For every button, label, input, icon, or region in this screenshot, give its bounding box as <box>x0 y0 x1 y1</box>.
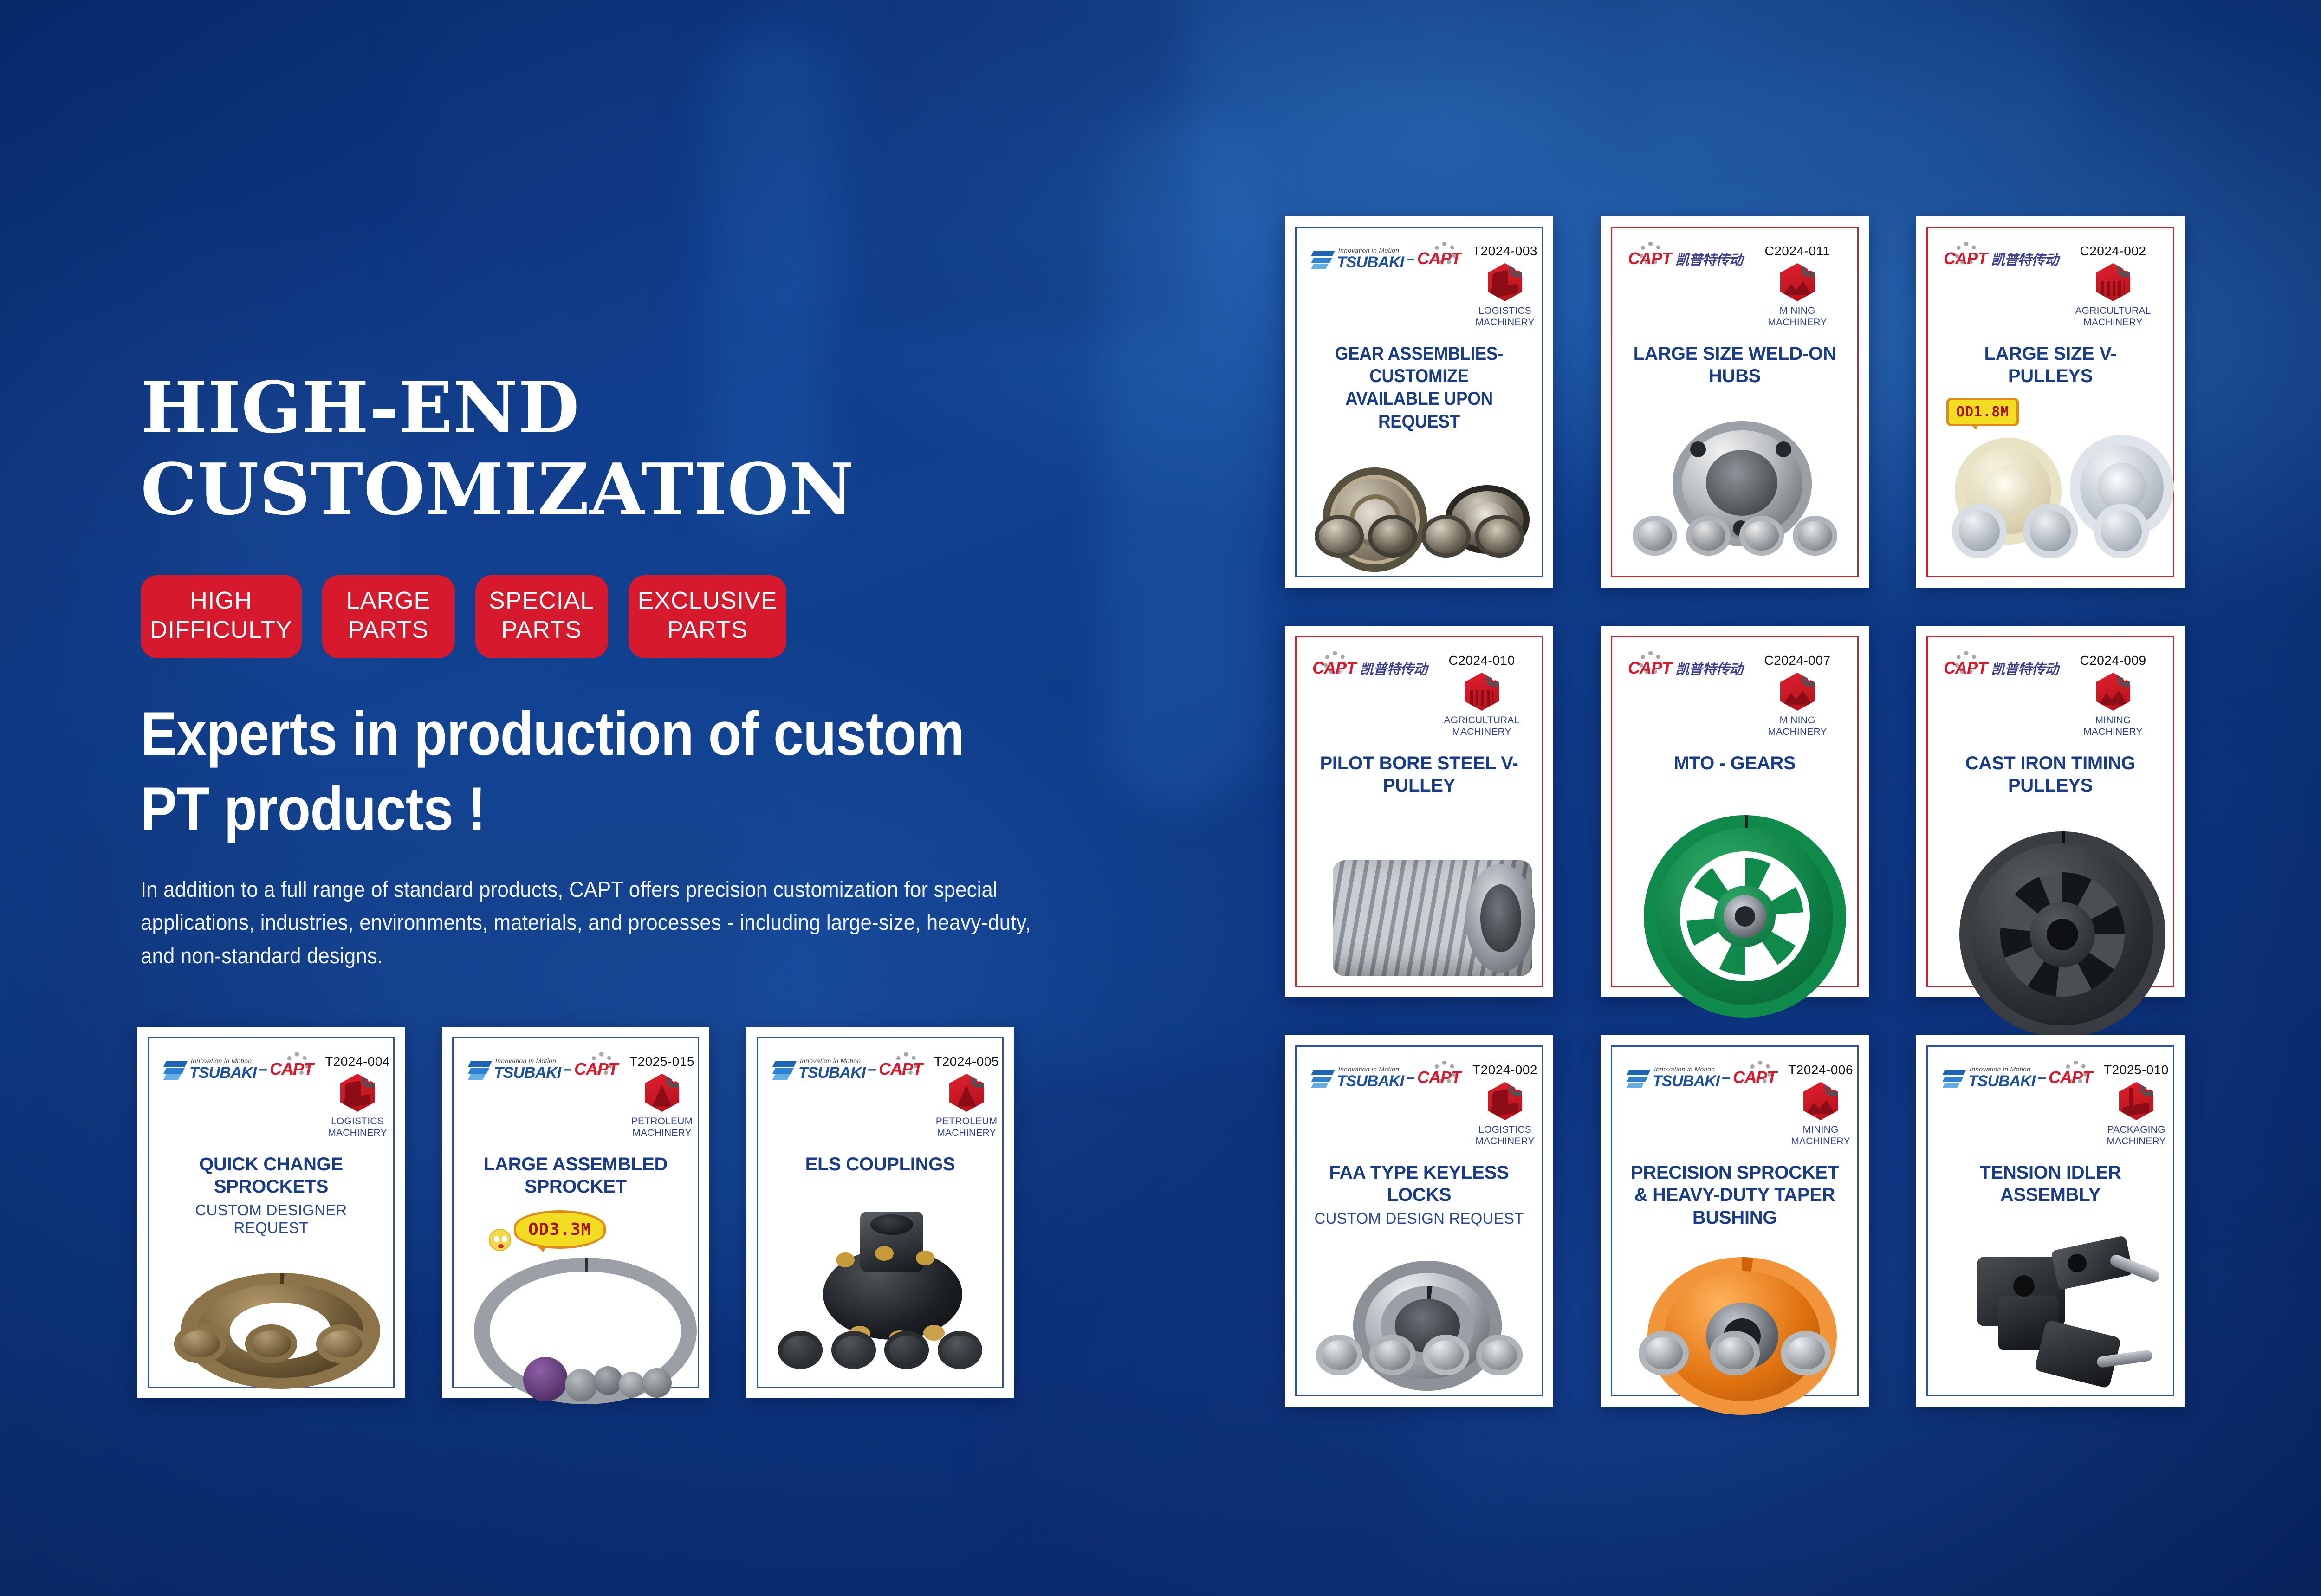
tsubaki-tagline: Innovation in Motion <box>494 1058 561 1064</box>
product-card-pilot-bore-v-pulley[interactable]: CAPT 凯普特传动 C2024-010 AGRICULTURALMACHINE… <box>1285 626 1553 997</box>
mining-hexagon-icon <box>1803 1082 1838 1120</box>
logo-dash: – <box>2037 1069 2046 1087</box>
capt-chinese-wordmark: 凯普特传动 <box>1360 658 1427 678</box>
pill-label-line-2: PARTS <box>638 616 778 645</box>
capt-chinese-logo: CAPT 凯普特传动 <box>1944 653 2058 683</box>
capt-wordmark: CAPT <box>1733 1068 1776 1087</box>
capt-chinese-logo: CAPT 凯普特传动 <box>1628 244 1743 273</box>
product-code: T2024-003 <box>1461 244 1549 259</box>
gear-icon <box>1802 261 1817 277</box>
packaging-hexagon-icon <box>2119 1082 2153 1120</box>
product-card-faa-keyless-locks[interactable]: Innovation in Motion TSUBAKI – CAPT T202… <box>1285 1035 1553 1407</box>
pill-label-line-1: LARGE <box>331 586 446 616</box>
gear-icon <box>2117 671 2133 687</box>
card-title: LARGE SIZE V-PULLEYS <box>1944 343 2157 388</box>
logistics-hexagon-icon <box>1488 1082 1522 1120</box>
page-title-line-2: CUSTOMIZATION <box>141 448 1153 530</box>
product-code: T2024-002 <box>1461 1063 1549 1077</box>
card-title: PILOT BORE STEEL V-PULLEY <box>1312 752 1526 798</box>
card-title: LARGE ASSEMBLED SPROCKET <box>469 1153 682 1199</box>
logistics-hexagon-icon <box>1488 263 1522 301</box>
hero-section: HIGH-END CUSTOMIZATION HIGH DIFFICULTY L… <box>141 367 1153 972</box>
capt-wordmark: CAPT <box>879 1059 922 1079</box>
hero-subheadline-line-1: Experts in production of custom <box>141 696 1031 772</box>
size-callout-label: OD3.3M <box>514 1210 606 1249</box>
product-image-timing-pulleys <box>1944 804 2157 976</box>
gear-icon <box>1486 671 1502 687</box>
capt-wordmark: CAPT <box>1628 249 1672 268</box>
logo-dash: – <box>868 1060 876 1078</box>
tsubaki-capt-logo: Innovation in Motion TSUBAKI – CAPT <box>774 1054 922 1084</box>
pill-label-line-2: PARTS <box>485 616 599 645</box>
industry-badge <box>1753 673 1841 711</box>
size-callout-badge: OD3.3M <box>514 1210 606 1249</box>
capt-wordmark: CAPT <box>270 1059 313 1079</box>
pill-label-line-2: DIFFICULTY <box>150 616 292 645</box>
product-image-gear-assemblies <box>1312 441 1526 567</box>
tsubaki-wordmark: TSUBAKI <box>1653 1073 1719 1089</box>
tsubaki-capt-logo: Innovation in Motion TSUBAKI – CAPT <box>1312 1063 1461 1092</box>
tsubaki-mark-icon <box>1312 1067 1334 1088</box>
feature-pill-high-difficulty[interactable]: HIGH DIFFICULTY <box>141 575 302 658</box>
industry-badge <box>2069 263 2157 301</box>
hero-subheadline-line-2: PT products ! <box>141 772 1031 847</box>
card-title: QUICK CHANGE SPROCKETS <box>165 1153 377 1199</box>
tsubaki-capt-logo: Innovation in Motion TSUBAKI – CAPT <box>1944 1063 2092 1092</box>
logo-dash: – <box>1406 1069 1415 1087</box>
feature-pill-exclusive-parts[interactable]: EXCLUSIVE PARTS <box>629 575 787 658</box>
feature-pill-special-parts[interactable]: SPECIAL PARTS <box>475 575 608 658</box>
product-code: T2024-004 <box>313 1054 402 1069</box>
tsubaki-mark-icon <box>774 1059 795 1079</box>
product-card-large-weld-on-hubs[interactable]: CAPT 凯普特传动 C2024-011 MININGMACHINERY LAR… <box>1601 216 1869 588</box>
product-code: C2024-010 <box>1438 653 1526 668</box>
product-card-tension-idler-assembly[interactable]: Innovation in Motion TSUBAKI – CAPT T202… <box>1916 1035 2185 1407</box>
card-title: ELS COUPLINGS <box>774 1153 986 1176</box>
product-image-v-pulleys: OD1.8M <box>1944 395 2157 567</box>
gear-icon <box>1802 671 1817 687</box>
tsubaki-mark-icon <box>1944 1067 1965 1088</box>
product-image-pilot-bore-pulley <box>1312 804 1526 976</box>
capt-wordmark: CAPT <box>2049 1068 2092 1087</box>
product-card-large-v-pulleys[interactable]: CAPT 凯普特传动 C2024-002 AGRICULTURALMACHINE… <box>1916 216 2185 588</box>
gear-icon <box>1825 1080 1841 1096</box>
product-image-quick-change-sprockets <box>165 1244 377 1377</box>
tsubaki-mark-icon <box>165 1059 186 1079</box>
tsubaki-tagline: Innovation in Motion <box>1968 1066 2035 1072</box>
card-title: CAST IRON TIMING PULLEYS <box>1944 752 2157 798</box>
hero-body-copy: In addition to a full range of standard … <box>141 873 1056 972</box>
capt-wordmark: CAPT <box>574 1059 618 1079</box>
feature-pill-list: HIGH DIFFICULTY LARGE PARTS SPECIAL PART… <box>141 575 1153 658</box>
capt-chinese-logo: CAPT 凯普特传动 <box>1944 244 2058 273</box>
pill-label-line-2: PARTS <box>331 616 446 645</box>
industry-label: LOGISTICSMACHINERY <box>313 1116 402 1139</box>
product-card-gear-assemblies[interactable]: Innovation in Motion TSUBAKI – CAPT T202… <box>1285 216 1553 588</box>
industry-label: AGRICULTURALMACHINERY <box>1438 715 1526 738</box>
industry-badge <box>2092 1082 2180 1120</box>
card-subtitle: CUSTOM DESIGN REQUEST <box>1312 1210 1526 1227</box>
card-title: PRECISION SPROCKET & HEAVY-DUTY TAPER BU… <box>1628 1161 1841 1229</box>
tsubaki-tagline: Innovation in Motion <box>1653 1066 1719 1072</box>
gear-icon <box>362 1072 377 1088</box>
product-code: C2024-011 <box>1753 244 1841 259</box>
tsubaki-wordmark: TSUBAKI <box>494 1065 561 1081</box>
size-callout-badge: OD1.8M <box>1946 398 2019 426</box>
product-code: T2025-015 <box>618 1054 706 1069</box>
industry-label: LOGISTICSMACHINERY <box>1461 305 1549 329</box>
industry-badge <box>922 1074 1011 1112</box>
tsubaki-wordmark: TSUBAKI <box>798 1065 865 1081</box>
capt-chinese-logo: CAPT 凯普特传动 <box>1312 653 1427 683</box>
capt-wordmark: CAPT <box>1944 658 1987 678</box>
card-title: FAA TYPE KEYLESS LOCKS <box>1312 1161 1526 1207</box>
card-title: GEAR ASSEMBLIES-CUSTOMIZE AVAILABLE UPON… <box>1321 343 1517 433</box>
mining-hexagon-icon <box>2096 673 2130 711</box>
product-code: T2024-005 <box>922 1054 1011 1069</box>
product-image-mto-gears <box>1628 782 1841 976</box>
product-image-large-assembled-sprocket: OD3.3M <box>469 1206 682 1377</box>
industry-label: MININGMACHINERY <box>2069 715 2157 738</box>
petroleum-hexagon-icon <box>645 1074 679 1112</box>
industry-label: AGRICULTURALMACHINERY <box>2069 305 2157 329</box>
capt-chinese-wordmark: 凯普特传动 <box>1675 658 1743 678</box>
tsubaki-mark-icon <box>469 1059 491 1079</box>
tsubaki-capt-logo: Innovation in Motion TSUBAKI – CAPT <box>1312 244 1461 273</box>
card-title: MTO - GEARS <box>1628 752 1841 775</box>
page-title: HIGH-END CUSTOMIZATION <box>141 367 1153 531</box>
industry-label: MININGMACHINERY <box>1753 305 1841 329</box>
mining-hexagon-icon <box>1780 263 1815 301</box>
capt-chinese-wordmark: 凯普特传动 <box>1991 248 2058 269</box>
pill-label-line-1: HIGH <box>150 586 292 616</box>
logo-dash: – <box>563 1060 572 1078</box>
industry-badge <box>1438 673 1526 711</box>
card-subtitle: CUSTOM DESIGNER REQUEST <box>165 1201 377 1237</box>
agricultural-hexagon-icon <box>1465 673 1499 711</box>
product-card-cast-iron-timing-pulleys[interactable]: CAPT 凯普特传动 C2024-009 MININGMACHINERY CAS… <box>1916 626 2185 997</box>
industry-label: PETROLEUMMACHINERY <box>618 1116 706 1139</box>
tsubaki-tagline: Innovation in Motion <box>1337 247 1404 253</box>
petroleum-hexagon-icon <box>949 1074 984 1112</box>
tsubaki-wordmark: TSUBAKI <box>1337 254 1404 270</box>
logistics-hexagon-icon <box>340 1074 375 1112</box>
gear-icon <box>1509 261 1525 277</box>
card-title: LARGE SIZE WELD-ON HUBS <box>1628 343 1841 388</box>
capt-chinese-wordmark: 凯普特传动 <box>1675 248 1743 269</box>
industry-label: LOGISTICSMACHINERY <box>1461 1124 1549 1148</box>
agricultural-hexagon-icon <box>2096 263 2130 301</box>
tsubaki-tagline: Innovation in Motion <box>798 1058 865 1064</box>
industry-badge <box>1753 263 1841 301</box>
industry-badge <box>313 1074 402 1112</box>
industry-label: MININGMACHINERY <box>1776 1124 1865 1148</box>
tsubaki-capt-logo: Innovation in Motion TSUBAKI – CAPT <box>1628 1063 1776 1092</box>
product-card-precision-sprocket-taper-bushing[interactable]: Innovation in Motion TSUBAKI – CAPT T202… <box>1601 1035 1869 1407</box>
capt-chinese-logo: CAPT 凯普特传动 <box>1628 653 1743 683</box>
tsubaki-wordmark: TSUBAKI <box>1337 1073 1404 1089</box>
card-title: TENSION IDLER ASSEMBLY <box>1944 1161 2157 1207</box>
feature-pill-large-parts[interactable]: LARGE PARTS <box>322 575 455 658</box>
industry-label: PACKAGINGMACHINERY <box>2092 1124 2180 1148</box>
capt-wordmark: CAPT <box>1312 658 1356 678</box>
tsubaki-tagline: Innovation in Motion <box>189 1058 256 1064</box>
industry-badge <box>618 1074 706 1112</box>
page-title-line-1: HIGH-END <box>141 367 1153 448</box>
tsubaki-capt-logo: Innovation in Motion TSUBAKI – CAPT <box>165 1054 313 1084</box>
pill-label-line-1: SPECIAL <box>485 586 599 616</box>
capt-wordmark: CAPT <box>1944 249 1987 268</box>
product-code: C2024-007 <box>1753 653 1841 668</box>
tsubaki-capt-logo: Innovation in Motion TSUBAKI – CAPT <box>469 1054 618 1084</box>
capt-wordmark: CAPT <box>1628 658 1672 678</box>
gear-icon <box>2140 1080 2156 1096</box>
capt-wordmark: CAPT <box>1417 249 1461 268</box>
gear-icon <box>1509 1080 1525 1096</box>
industry-badge <box>1461 1082 1549 1120</box>
logo-dash: – <box>1722 1069 1731 1087</box>
product-image-precision-sprocket <box>1628 1237 1841 1386</box>
tsubaki-wordmark: TSUBAKI <box>1968 1073 2035 1089</box>
surprised-face-icon <box>489 1229 511 1251</box>
industry-badge <box>1776 1082 1865 1120</box>
tsubaki-mark-icon <box>1628 1067 1649 1088</box>
hero-subheadline: Experts in production of custom PT produ… <box>141 696 1031 847</box>
product-code: T2024-006 <box>1776 1063 1865 1077</box>
product-code: C2024-009 <box>2069 653 2157 668</box>
tsubaki-wordmark: TSUBAKI <box>189 1065 256 1081</box>
industry-badge <box>2069 673 2157 711</box>
tsubaki-tagline: Innovation in Motion <box>1337 1066 1404 1072</box>
logo-dash: – <box>259 1060 267 1078</box>
capt-chinese-wordmark: 凯普特传动 <box>1991 658 2058 678</box>
industry-label: MININGMACHINERY <box>1753 715 1841 738</box>
pill-label-line-1: EXCLUSIVE <box>638 586 778 616</box>
product-image-tension-idler <box>1944 1214 2157 1386</box>
product-image-keyless-locks <box>1312 1235 1526 1386</box>
product-image-els-couplings <box>774 1183 986 1377</box>
product-image-weld-on-hubs <box>1628 395 1841 567</box>
gear-icon <box>2117 261 2133 277</box>
gear-icon <box>971 1072 986 1088</box>
capt-wordmark: CAPT <box>1417 1068 1461 1087</box>
product-code: T2025-010 <box>2092 1063 2180 1077</box>
mining-hexagon-icon <box>1780 673 1815 711</box>
product-card-large-assembled-sprocket[interactable]: Innovation in Motion TSUBAKI – CAPT T202… <box>442 1027 709 1398</box>
product-card-els-couplings[interactable]: Innovation in Motion TSUBAKI – CAPT T202… <box>746 1027 1014 1398</box>
size-callout-label: OD1.8M <box>1946 398 2019 426</box>
industry-badge <box>1461 263 1549 301</box>
industry-label: PETROLEUMMACHINERY <box>922 1116 1011 1139</box>
tsubaki-mark-icon <box>1312 248 1334 269</box>
product-code: C2024-002 <box>2069 244 2157 259</box>
logo-dash: – <box>1406 250 1415 268</box>
product-card-quick-change-sprockets[interactable]: Innovation in Motion TSUBAKI – CAPT T202… <box>137 1027 405 1398</box>
product-card-mto-gears[interactable]: CAPT 凯普特传动 C2024-007 MININGMACHINERY MTO… <box>1601 626 1869 997</box>
gear-icon <box>666 1072 682 1088</box>
